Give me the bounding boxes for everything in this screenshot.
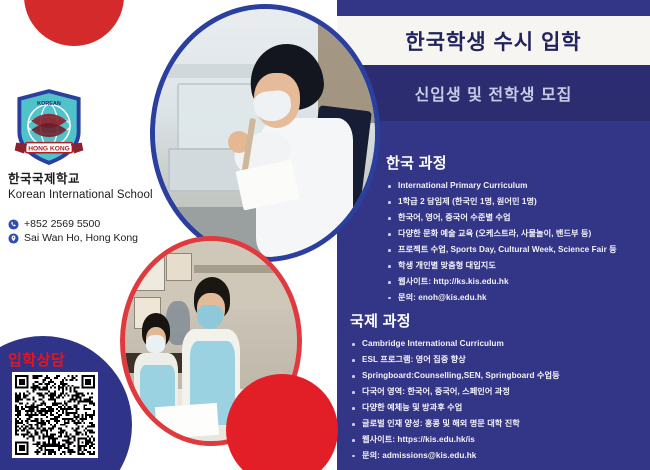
list-item: 다양한 예체능 및 방과후 수업	[350, 400, 648, 416]
school-name-korean: 한국국제학교	[8, 172, 178, 188]
poster-title: 한국학생 수시 입학	[405, 26, 581, 56]
qr-code[interactable]	[12, 372, 98, 458]
list-item: 학생 개인별 맞춤형 대입지도	[386, 258, 648, 274]
school-name-block: 한국국제학교 Korean International School	[8, 172, 178, 203]
course-heading-korean: 한국 과정	[386, 152, 648, 173]
svg-text:HONG KONG: HONG KONG	[28, 145, 70, 152]
panel-top-strip	[337, 0, 650, 16]
list-item: Springboard:Counselling,SEN, Springboard…	[350, 368, 648, 384]
decorative-circle-red-bottom	[226, 374, 338, 470]
course-heading-international: 국제 과정	[350, 310, 648, 331]
contact-row-location: Sai Wan Ho, Hong Kong	[8, 232, 198, 244]
poster-subtitle-band: 신입생 및 전학생 모집	[337, 65, 650, 121]
list-item: 다국어 영역: 한국어, 중국어, 스페인어 과정	[350, 384, 648, 400]
list-item: International Primary Curriculum	[386, 178, 648, 194]
course-list-korean: International Primary Curriculum 1학급 2 담…	[386, 178, 648, 306]
list-item: 문의: admissions@kis.edu.hk	[350, 448, 648, 464]
course-block-international: 국제 과정 Cambridge International Curriculum…	[350, 310, 648, 464]
svg-text:KOREAN: KOREAN	[37, 101, 61, 107]
location-pin-icon	[8, 233, 19, 244]
poster-title-band: 한국학생 수시 입학	[337, 16, 650, 65]
contact-phone-text: +852 2569 5500	[24, 218, 100, 230]
contact-location-text: Sai Wan Ho, Hong Kong	[24, 232, 138, 244]
qr-label: 입학상담	[8, 349, 65, 370]
contact-block: +852 2569 5500 Sai Wan Ho, Hong Kong	[8, 218, 198, 246]
contact-row-phone: +852 2569 5500	[8, 218, 198, 230]
poster-subtitle: 신입생 및 전학생 모집	[415, 81, 573, 105]
school-crest-icon: KOREAN SCHOOL HONG KONG	[10, 88, 88, 166]
school-logo: KOREAN SCHOOL HONG KONG	[10, 88, 88, 166]
list-item: 다양한 문화 예술 교육 (오케스트라, 사물놀이, 밴드부 등)	[386, 226, 648, 242]
school-name-english: Korean International School	[8, 188, 178, 203]
list-item: 한국어, 영어, 중국어 수준별 수업	[386, 210, 648, 226]
course-list-international: Cambridge International Curriculum ESL 프…	[350, 336, 648, 464]
decorative-circle-red-top	[24, 0, 124, 46]
list-item: 웹사이트: http://ks.kis.edu.hk	[386, 274, 648, 290]
list-item: 프로젝트 수업, Sports Day, Cultural Week, Scie…	[386, 242, 648, 258]
list-item: Cambridge International Curriculum	[350, 336, 648, 352]
list-item: 웹사이트: https://kis.edu.hk/is	[350, 432, 648, 448]
course-block-korean: 한국 과정 International Primary Curriculum 1…	[386, 152, 648, 306]
qr-code-canvas	[15, 375, 95, 455]
poster-root: 한국학생 수시 입학 신입생 및 전학생 모집	[0, 0, 650, 470]
list-item: ESL 프로그램: 영어 집중 향상	[350, 352, 648, 368]
phone-icon	[8, 219, 19, 230]
list-item: 1학급 2 담임제 (한국인 1명, 원어민 1명)	[386, 194, 648, 210]
list-item: 문의: enoh@kis.edu.hk	[386, 290, 648, 306]
list-item: 글로벌 인재 양성: 홍콩 및 해외 명문 대학 진학	[350, 416, 648, 432]
